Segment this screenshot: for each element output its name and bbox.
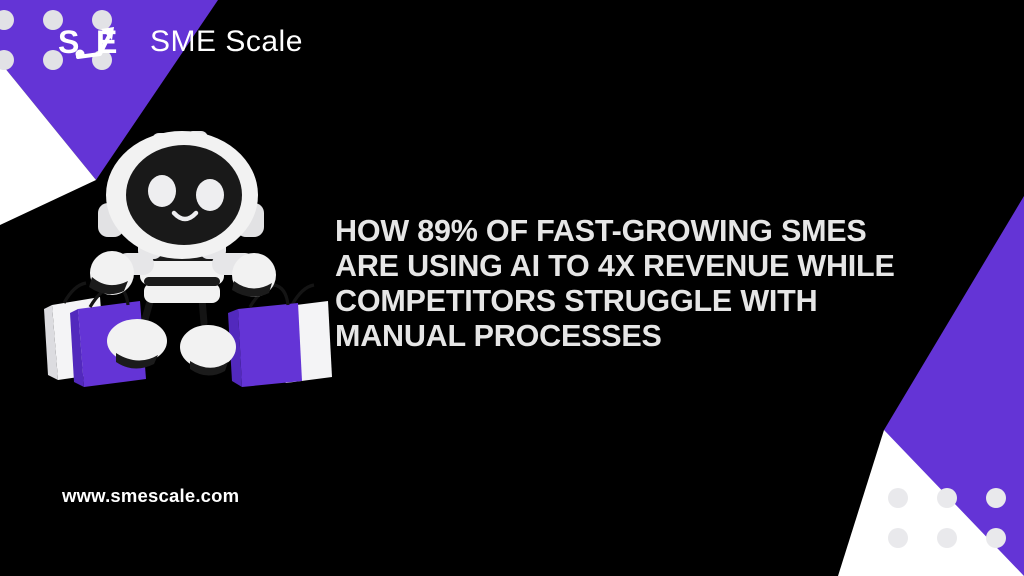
brand-logo[interactable]: S E SME Scale [58, 20, 303, 64]
dot [986, 488, 1006, 508]
robot-head [98, 131, 264, 259]
slide-canvas: S E SME Scale [0, 0, 1024, 576]
brand-name: SME Scale [150, 20, 303, 64]
robot-with-shopping-bags-illustration [40, 125, 340, 390]
corner-dot-grid [888, 488, 1010, 550]
headline: HOW 89% OF FAST-GROWING SMES ARE USING A… [335, 214, 960, 354]
sme-scale-growth-arrow-icon: S E [58, 20, 144, 64]
dot [0, 10, 14, 30]
right-shopping-bags [228, 285, 332, 387]
headline-line-3: COMPETITORS STRUGGLE WITH [335, 284, 960, 319]
headline-line-1: HOW 89% OF FAST-GROWING SMES [335, 214, 960, 249]
dot [937, 488, 957, 508]
website-url[interactable]: www.smescale.com [62, 485, 239, 507]
headline-line-2: ARE USING AI TO 4X REVENUE WHILE [335, 249, 960, 284]
dot [0, 50, 14, 70]
dot [888, 488, 908, 508]
dot [937, 528, 957, 548]
dot [888, 528, 908, 548]
headline-line-4: MANUAL PROCESSES [335, 319, 960, 354]
dot [986, 528, 1006, 548]
